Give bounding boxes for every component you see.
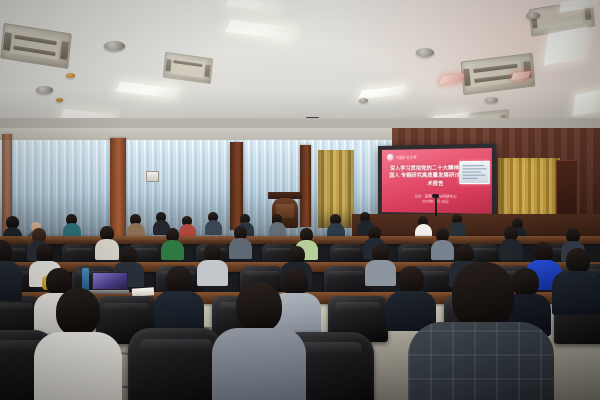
ceiling-speaker	[104, 41, 125, 51]
logo-text: 中国矿业大学	[396, 154, 417, 159]
university-logo: 中国矿业大学	[387, 153, 417, 160]
wall-pillar	[110, 138, 126, 236]
lecture-hall-photo: 中国矿业大学 深入学习贯彻党的二十大精神 书记新中国人 专题研究高质量发展研讨会…	[0, 0, 600, 400]
chair[interactable]	[128, 328, 224, 400]
wall-sign	[146, 171, 159, 182]
microphone-icon	[430, 196, 442, 216]
slide-inset-preview	[459, 161, 489, 184]
logo-mark-icon	[387, 154, 394, 161]
ceiling-speaker	[526, 12, 540, 19]
smoke-detector	[66, 73, 75, 78]
ceiling-speaker	[416, 48, 434, 57]
laptop[interactable]	[92, 272, 126, 294]
slide-glow	[382, 148, 492, 150]
